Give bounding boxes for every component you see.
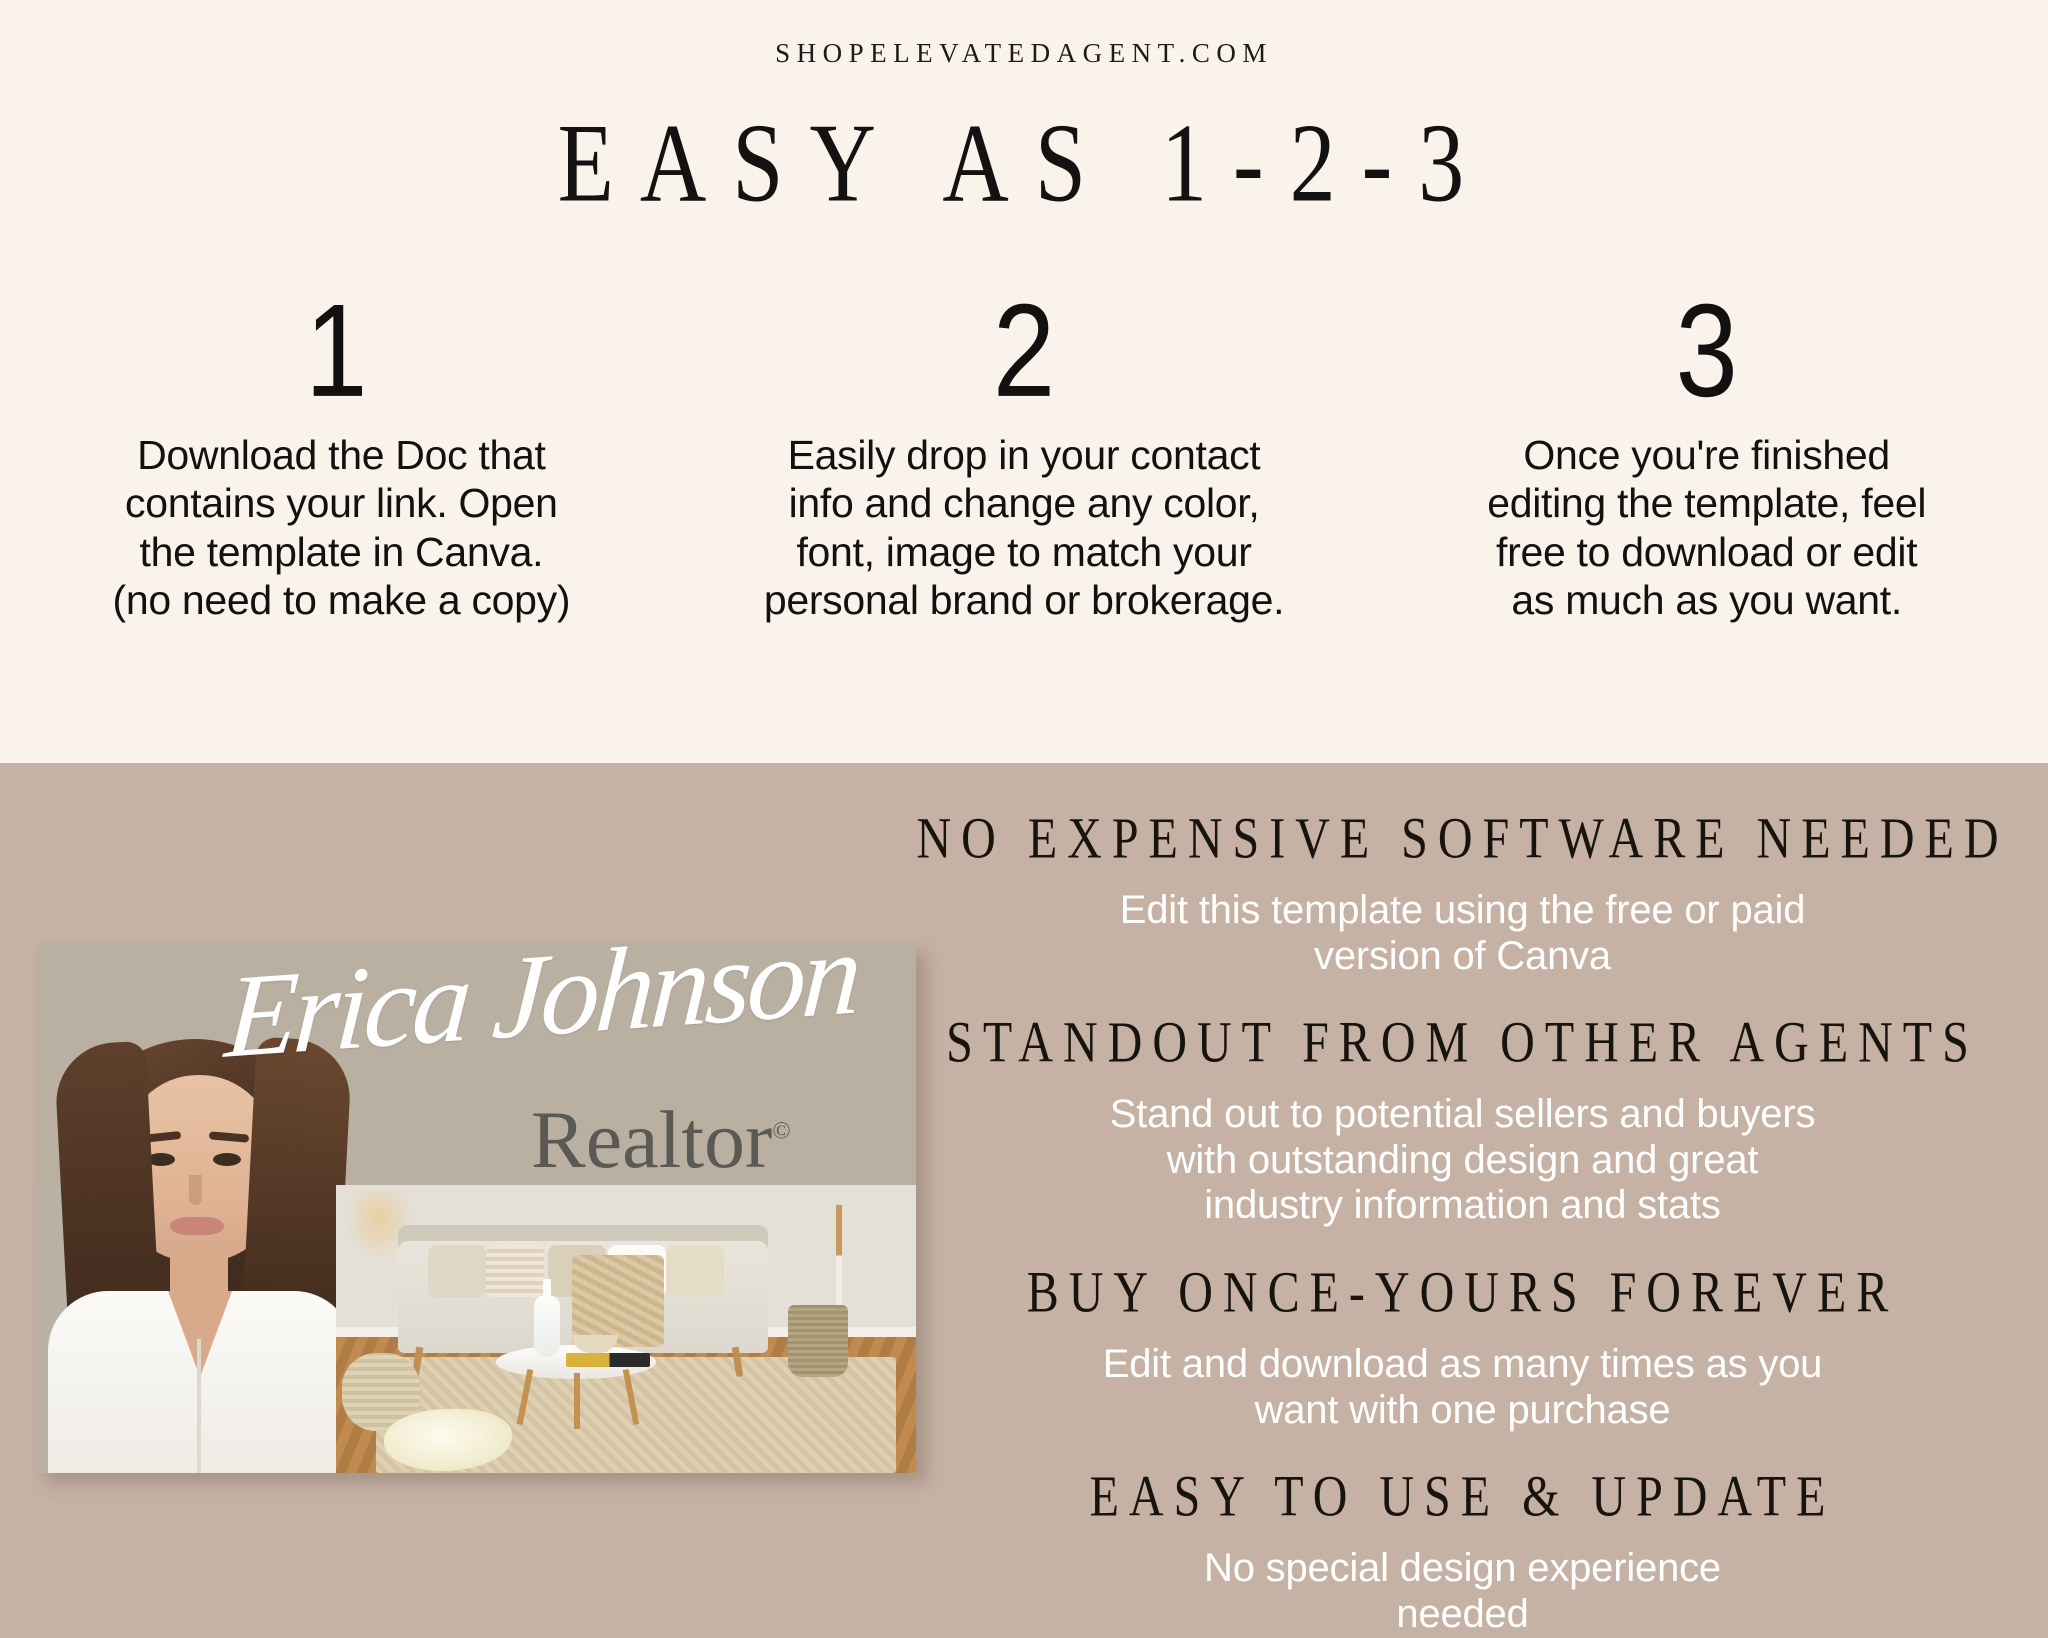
- agent-title-text: Realtor: [531, 1094, 772, 1185]
- feature-body: Edit this template using the free or pai…: [917, 888, 2009, 979]
- feature-body: No special design experience needed: [1090, 1546, 1836, 1637]
- pillow: [428, 1245, 486, 1297]
- lips: [170, 1217, 224, 1235]
- feature-item: STANDOUT FROM OTHER AGENTS Stand out to …: [946, 1015, 1979, 1255]
- feature-body: Edit and download as many times as you w…: [1027, 1342, 1899, 1433]
- pillow: [486, 1245, 544, 1297]
- bottom-section: Erica Johnson Realtor©: [0, 763, 2048, 1638]
- stacked-books: [566, 1353, 650, 1367]
- step-description: Once you're finished editing the templat…: [1487, 431, 1926, 625]
- step-item: 2 Easily drop in your contact info and c…: [683, 285, 1366, 685]
- steps-row: 1 Download the Doc that contains your li…: [0, 285, 2048, 685]
- feature-heading: BUY ONCE-YOURS FOREVER: [1027, 1259, 1899, 1326]
- step-item: 1 Download the Doc that contains your li…: [0, 285, 683, 685]
- white-vase: [534, 1295, 560, 1357]
- step-description: Easily drop in your contact info and cha…: [764, 431, 1284, 625]
- shirt-placket: [197, 1339, 201, 1473]
- feature-item: BUY ONCE-YOURS FOREVER Edit and download…: [1027, 1265, 1899, 1459]
- eye-right: [213, 1153, 241, 1166]
- feature-heading: STANDOUT FROM OTHER AGENTS: [946, 1009, 1979, 1076]
- top-section: SHOPELEVATEDAGENT.COM EASY AS 1-2-3 1 Do…: [0, 0, 2048, 763]
- pillow: [666, 1245, 724, 1297]
- step-description: Download the Doc that contains your link…: [112, 431, 570, 625]
- feature-item: EASY TO USE & UPDATE No special design e…: [1090, 1469, 1836, 1638]
- trademark-mark: ©: [772, 1119, 790, 1145]
- site-url: SHOPELEVATEDAGENT.COM: [0, 38, 2048, 69]
- marketing-graphic: SHOPELEVATEDAGENT.COM EASY AS 1-2-3 1 Do…: [0, 0, 2048, 1638]
- woven-basket: [788, 1305, 848, 1377]
- feature-heading: NO EXPENSIVE SOFTWARE NEEDED: [917, 805, 2009, 872]
- business-card-preview: Erica Johnson Realtor©: [36, 943, 916, 1473]
- living-room-photo: [336, 1185, 916, 1473]
- table-leg: [574, 1373, 580, 1429]
- step-item: 3 Once you're finished editing the templ…: [1365, 285, 2048, 685]
- feature-heading: EASY TO USE & UPDATE: [1090, 1463, 1836, 1530]
- page-title: EASY AS 1-2-3: [0, 98, 2048, 227]
- throw-blanket: [572, 1255, 664, 1347]
- step-number: 2: [993, 285, 1055, 417]
- step-number: 3: [1676, 285, 1738, 417]
- feature-item: NO EXPENSIVE SOFTWARE NEEDED Edit this t…: [917, 811, 2009, 1005]
- step-number: 1: [305, 285, 367, 417]
- agent-title: Realtor©: [531, 1093, 791, 1187]
- feature-list: NO EXPENSIVE SOFTWARE NEEDED Edit this t…: [905, 811, 2020, 1638]
- feature-body: Stand out to potential sellers and buyer…: [946, 1092, 1979, 1229]
- nose: [189, 1175, 202, 1205]
